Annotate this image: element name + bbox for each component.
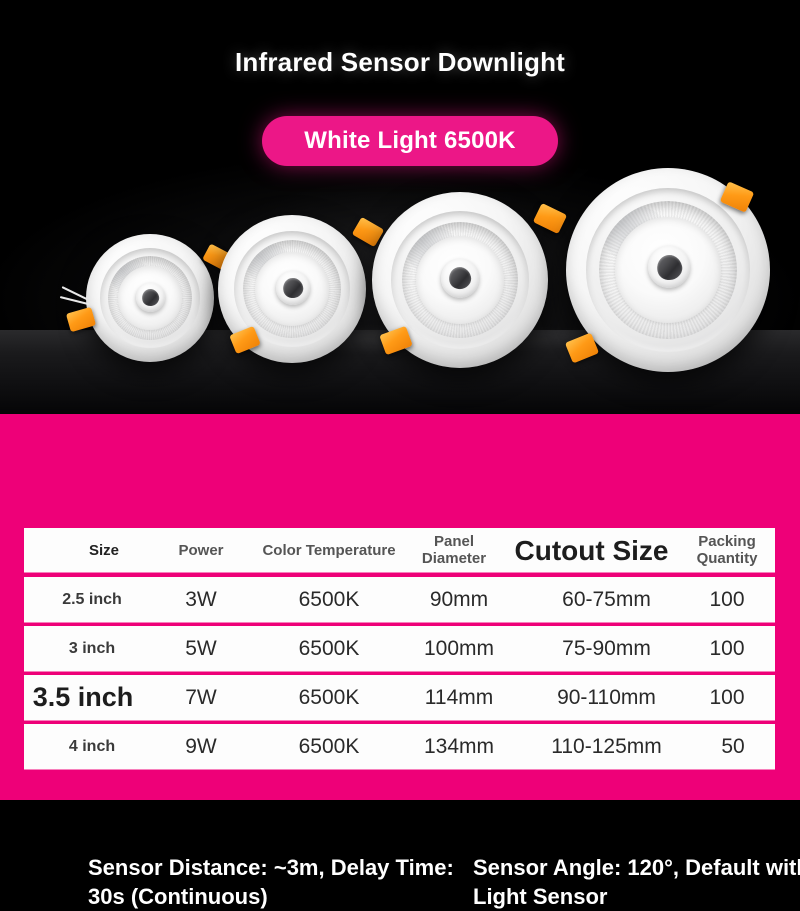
spring-clip-1a — [66, 307, 96, 332]
downlight-unit-1 — [86, 234, 214, 362]
spec-table: Size Power Color Temperature Panel Diame… — [0, 514, 800, 800]
cell-size: 2.5 inch — [24, 577, 160, 622]
pir-sensor-dome — [276, 271, 310, 305]
cell-packing-quantity: 100 — [679, 577, 775, 622]
cell-packing-quantity: 100 — [679, 626, 775, 671]
cell-cutout-size: 110-125mm — [499, 724, 714, 769]
feature-band: Sensor Distance: ~3m, Delay Time: 30s (C… — [0, 414, 800, 514]
header-packing-quantity: Packing Quantity — [679, 528, 775, 572]
cell-size: 3 inch — [24, 626, 160, 671]
badge-label: White Light 6500K — [304, 127, 515, 155]
header-cutout-size: Cutout Size — [479, 528, 704, 572]
table-row: 2.5 inch 3W 6500K 90mm 60-75mm 100 — [24, 577, 775, 622]
table-row: 3.5 inch 7W 6500K 114mm 90-110mm 100 — [24, 675, 775, 720]
hero-photo-area: Infrared Sensor Downlight White Light 65… — [0, 0, 800, 414]
product-infographic: Infrared Sensor Downlight White Light 65… — [0, 0, 800, 800]
cell-packing-quantity: 50 — [685, 724, 781, 769]
table-row: 3 inch 5W 6500K 100mm 75-90mm 100 — [24, 626, 775, 671]
color-temperature-badge: White Light 6500K — [262, 116, 558, 166]
cell-size: 4 inch — [24, 724, 160, 769]
table-row: 4 inch 9W 6500K 134mm 110-125mm 50 — [24, 724, 775, 769]
cell-packing-quantity: 100 — [679, 675, 775, 720]
cell-size: 3.5 inch — [8, 675, 158, 720]
pir-sensor-dome — [441, 259, 480, 298]
table-header-row: Size Power Color Temperature Panel Diame… — [24, 528, 775, 572]
page-title: Infrared Sensor Downlight — [0, 47, 800, 78]
feature-sensor-angle: Sensor Angle: 120°, Default with Light S… — [473, 853, 800, 911]
feature-sensor-distance: Sensor Distance: ~3m, Delay Time: 30s (C… — [88, 853, 468, 911]
